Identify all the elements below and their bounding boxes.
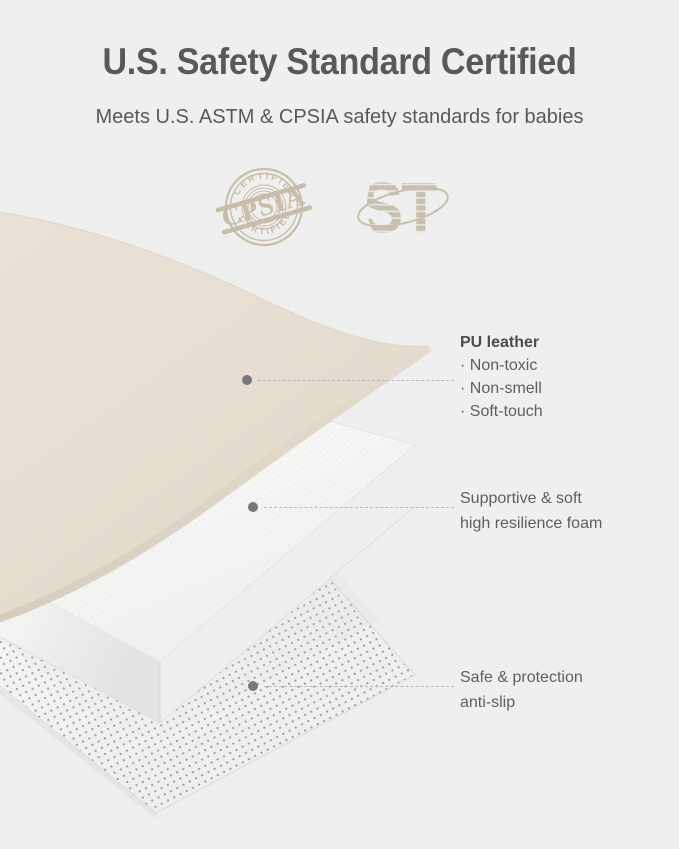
- callout-anti-slip-line-1: Safe & protection: [460, 665, 583, 690]
- product-infographic: U.S. Safety Standard Certified Meets U.S…: [0, 0, 679, 849]
- callout-pu-leather-bullet-1: · Non-toxic: [460, 354, 543, 377]
- callout-leader-pu-leather: [258, 380, 454, 382]
- callout-dot-anti-slip: [248, 681, 258, 691]
- callout-foam-line-2: high resilience foam: [460, 511, 602, 536]
- layered-product-illustration: [0, 150, 480, 849]
- callout-anti-slip: Safe & protection anti-slip: [460, 665, 583, 715]
- callout-foam: Supportive & soft high resilience foam: [460, 486, 602, 536]
- callout-pu-leather-heading: PU leather: [460, 331, 543, 354]
- callout-foam-line-1: Supportive & soft: [460, 486, 602, 511]
- callout-leader-anti-slip: [264, 686, 454, 688]
- callout-anti-slip-line-2: anti-slip: [460, 690, 583, 715]
- callout-leader-foam: [264, 507, 454, 509]
- callout-dot-foam: [248, 502, 258, 512]
- callout-pu-leather-bullet-3: · Soft-touch: [460, 400, 543, 423]
- page-title: U.S. Safety Standard Certified: [27, 40, 652, 84]
- page-subtitle: Meets U.S. ASTM & CPSIA safety standards…: [0, 104, 679, 130]
- callout-pu-leather: PU leather · Non-toxic · Non-smell · Sof…: [460, 331, 543, 423]
- callout-pu-leather-bullet-2: · Non-smell: [460, 377, 543, 400]
- callout-dot-pu-leather: [242, 375, 252, 385]
